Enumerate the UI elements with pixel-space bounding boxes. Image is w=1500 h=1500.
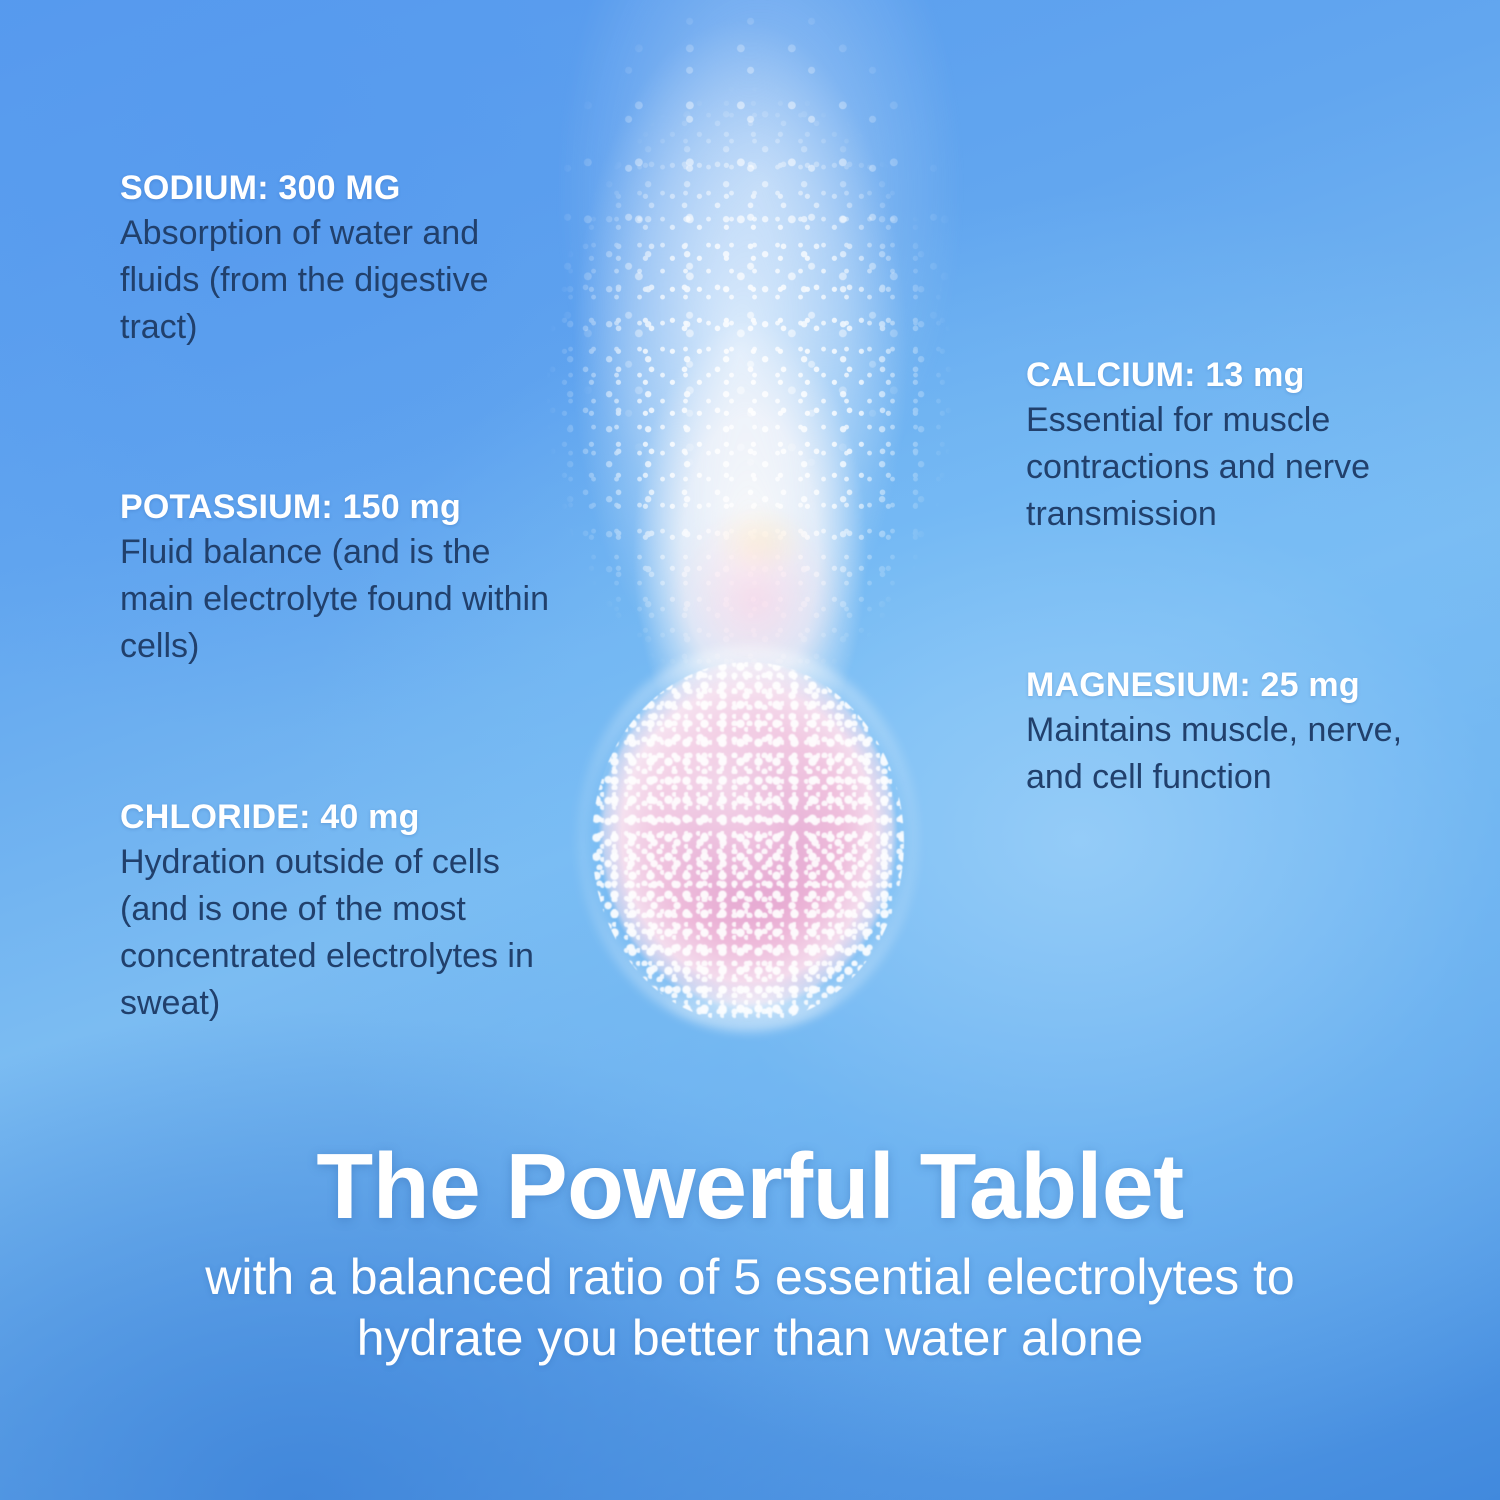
fact-sodium-heading: SODIUM: 300 MG [120,168,550,208]
fact-calcium: CALCIUM: 13 mg Essential for muscle cont… [1026,355,1426,538]
effervescent-tablet-image [592,662,904,1022]
tablet-bubble-skin [592,662,904,1022]
footer-subline-line1: with a balanced ratio of 5 essential ele… [0,1247,1500,1308]
fact-sodium: SODIUM: 300 MG Absorption of water and f… [120,168,550,351]
fact-potassium: POTASSIUM: 150 mg Fluid balance (and is … [120,487,550,670]
fact-sodium-body: Absorption of water and fluids (from the… [120,210,550,351]
fact-chloride-body: Hydration outside of cells (and is one o… [120,839,550,1027]
fact-calcium-heading: CALCIUM: 13 mg [1026,355,1426,395]
fact-magnesium-heading: MAGNESIUM: 25 mg [1026,665,1426,705]
bubble-texture-fine [505,0,995,670]
fact-calcium-body: Essential for muscle contractions and ne… [1026,397,1426,538]
infographic-page: SODIUM: 300 MG Absorption of water and f… [0,0,1500,1500]
fact-chloride: CHLORIDE: 40 mg Hydration outside of cel… [120,797,550,1027]
footer-subline: with a balanced ratio of 5 essential ele… [0,1247,1500,1369]
bubble-texture-coarse [520,0,980,480]
fact-potassium-body: Fluid balance (and is the main electroly… [120,529,550,670]
fact-magnesium: MAGNESIUM: 25 mg Maintains muscle, nerve… [1026,665,1426,801]
fact-magnesium-body: Maintains muscle, nerve, and cell functi… [1026,707,1426,801]
footer-headline: The Powerful Tablet [0,1140,1500,1233]
footer-block: The Powerful Tablet with a balanced rati… [0,1140,1500,1369]
fact-chloride-heading: CHLORIDE: 40 mg [120,797,550,837]
bubble-plume [500,0,1000,720]
fact-potassium-heading: POTASSIUM: 150 mg [120,487,550,527]
footer-subline-line2: hydrate you better than water alone [0,1308,1500,1369]
